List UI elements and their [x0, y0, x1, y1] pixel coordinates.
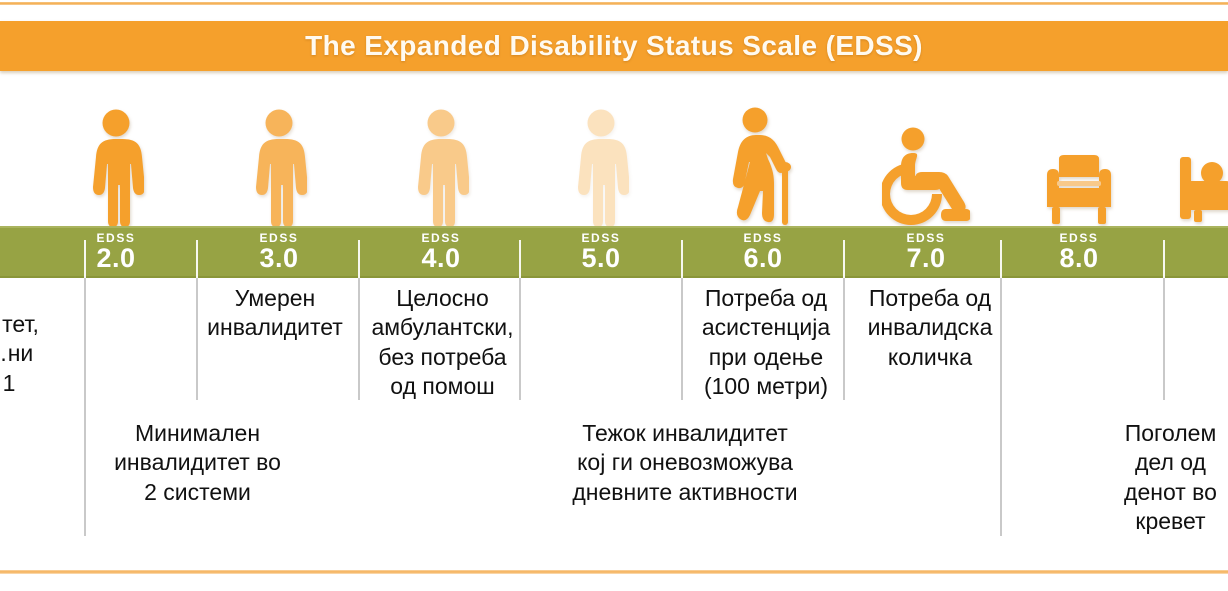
scale-label-edss-6: EDSS 6.0 [698, 232, 828, 272]
bed-icon [1180, 151, 1228, 227]
scale-tick [519, 240, 521, 280]
top-frame-rule [0, 2, 1228, 5]
title-banner: The Expanded Disability Status Scale (ED… [0, 21, 1228, 71]
caption-edss-5: Тежок инвалидитет кој ги оневозможува дн… [540, 419, 830, 507]
scale-label-edss-8: EDSS 8.0 [1014, 232, 1144, 272]
scale-label-edss-3: EDSS 3.0 [214, 232, 344, 272]
icon-slot-bed [1180, 95, 1228, 227]
edss-word: EDSS [698, 232, 828, 244]
caption-edss-6: Потреба од асистенција при одење (100 ме… [686, 284, 846, 402]
icon-slot-edss-4 [381, 95, 501, 227]
wheelchair-icon [882, 127, 970, 227]
icon-slot-edss-6 [703, 95, 823, 227]
edss-word: EDSS [1014, 232, 1144, 244]
icon-strip [0, 95, 1228, 227]
armchair-icon [1043, 155, 1115, 227]
connector-line [84, 278, 86, 536]
standing-person-icon [88, 109, 144, 227]
scale-label-edss-2: EDSS 2.0 [51, 232, 181, 272]
icon-slot-edss-3 [219, 95, 339, 227]
scale-tick [1163, 240, 1165, 280]
edss-word: EDSS [536, 232, 666, 244]
edss-value: 2.0 [51, 245, 181, 272]
edss-scale-bar: EDSS 2.0 EDSS 3.0 EDSS 4.0 EDSS 5.0 EDSS… [0, 226, 1228, 278]
edss-word: EDSS [51, 232, 181, 244]
scale-label-edss-7: EDSS 7.0 [861, 232, 991, 272]
page-title: The Expanded Disability Status Scale (ED… [305, 30, 923, 62]
standing-person-icon [413, 109, 469, 227]
edss-value: 7.0 [861, 245, 991, 272]
edss-value: 6.0 [698, 245, 828, 272]
scale-tick [84, 240, 86, 280]
edss-value: 4.0 [376, 245, 506, 272]
icon-slot-edss-7 [866, 95, 986, 227]
scale-tick [1000, 240, 1002, 280]
edss-value: 8.0 [1014, 245, 1144, 272]
edss-value: 3.0 [214, 245, 344, 272]
scale-tick [358, 240, 360, 280]
scale-tick [843, 240, 845, 280]
connector-line [196, 278, 198, 400]
person-with-cane-icon [726, 107, 800, 227]
edss-word: EDSS [861, 232, 991, 244]
bottom-frame-rule [0, 570, 1228, 574]
icon-slot-edss-5 [541, 95, 661, 227]
caption-edss-1-clipped: …тет, …ни 1 [0, 310, 64, 398]
caption-edss-4: Целосно амбулантски, без потреба од помо… [360, 284, 525, 402]
connector-line [1163, 278, 1165, 400]
icon-slot-edss-8 [1019, 95, 1139, 227]
edss-word: EDSS [376, 232, 506, 244]
edss-value: 5.0 [536, 245, 666, 272]
scale-label-edss-4: EDSS 4.0 [376, 232, 506, 272]
edss-word: EDSS [214, 232, 344, 244]
scale-label-edss-5: EDSS 5.0 [536, 232, 666, 272]
connector-line [681, 278, 683, 400]
scale-tick [196, 240, 198, 280]
caption-edss-2: Минимален инвалидитет во 2 системи [90, 419, 305, 507]
caption-edss-8: Поголем дел од денот во кревет [1108, 419, 1228, 537]
icon-slot-edss-2 [56, 95, 176, 227]
scale-tick [681, 240, 683, 280]
caption-edss-7: Потреба од инвалидска количка [855, 284, 1005, 372]
standing-person-icon [573, 109, 629, 227]
caption-edss-3: Умерен инвалидитет [200, 284, 350, 343]
standing-person-icon [251, 109, 307, 227]
